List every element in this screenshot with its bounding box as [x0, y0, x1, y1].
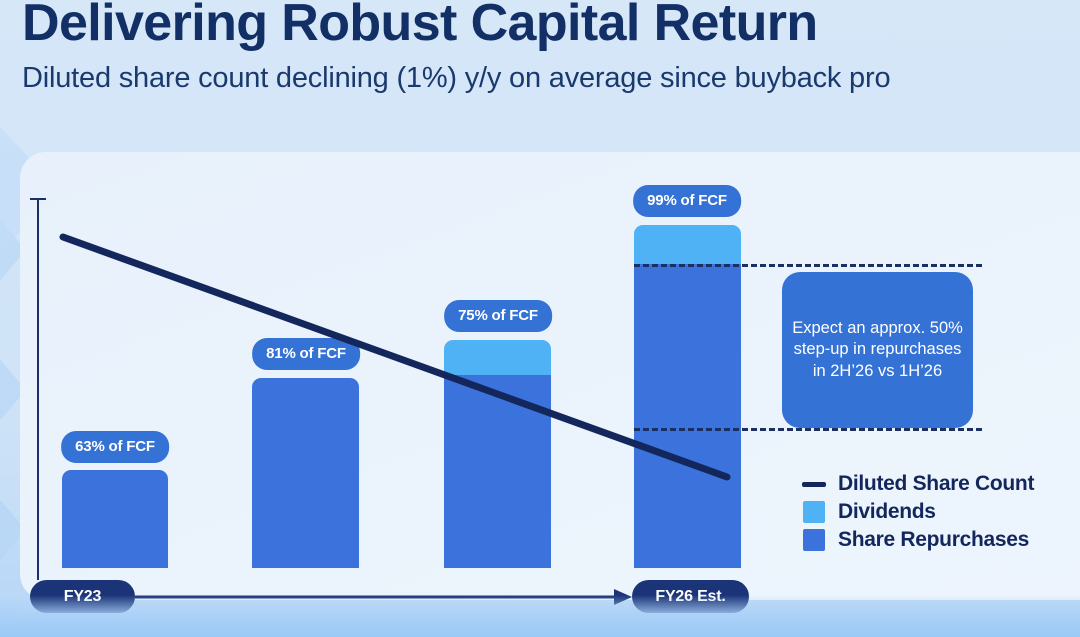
legend-item-diluted-share-count: Diluted Share Count — [802, 470, 1080, 498]
color-swatch-icon — [802, 528, 826, 552]
callout-leader-line-top — [634, 264, 982, 267]
color-swatch-icon — [802, 500, 826, 524]
chart-legend: Diluted Share Count Dividends Share Repu… — [802, 470, 1080, 554]
bar-fy26-est — [634, 225, 741, 568]
legend-item-share-repurchases: Share Repurchases — [802, 526, 1080, 554]
fcf-label-fy25: 75% of FCF — [444, 300, 552, 332]
legend-label: Diluted Share Count — [838, 472, 1034, 496]
bar-fy25 — [444, 340, 551, 568]
fcf-label-fy24: 81% of FCF — [252, 338, 360, 370]
line-swatch-icon — [802, 472, 826, 496]
legend-label: Share Repurchases — [838, 528, 1029, 552]
fcf-label-fy23: 63% of FCF — [61, 431, 169, 463]
bar-segment-share-repurchases — [634, 264, 741, 568]
fcf-label-fy26-est: 99% of FCF — [633, 185, 741, 217]
bar-fy24 — [252, 378, 359, 568]
y-axis-top-cap — [30, 198, 46, 200]
bottom-accent-band — [0, 595, 1080, 637]
callout-leader-line-bottom — [634, 428, 982, 431]
legend-label: Dividends — [838, 500, 936, 524]
slide-root: Delivering Robust Capital Return Diluted… — [0, 0, 1080, 637]
bar-segment-dividends — [444, 340, 551, 375]
bar-segment-share-repurchases — [444, 375, 551, 568]
bar-segment-share-repurchases — [252, 378, 359, 568]
bar-segment-dividends — [634, 225, 741, 264]
bar-segment-share-repurchases — [62, 470, 168, 568]
chart-card: 63% of FCF 81% of FCF 75% of FCF 99% of … — [20, 152, 1080, 600]
legend-item-dividends: Dividends — [802, 498, 1080, 526]
heading-block: Delivering Robust Capital Return Diluted… — [22, 0, 1080, 95]
callout-box: Expect an approx. 50% step-up in repurch… — [782, 272, 973, 428]
page-subtitle: Diluted share count declining (1%) y/y o… — [22, 63, 1080, 95]
page-title: Delivering Robust Capital Return — [22, 0, 1080, 51]
bar-fy23 — [62, 470, 168, 568]
y-axis-line — [37, 198, 39, 580]
